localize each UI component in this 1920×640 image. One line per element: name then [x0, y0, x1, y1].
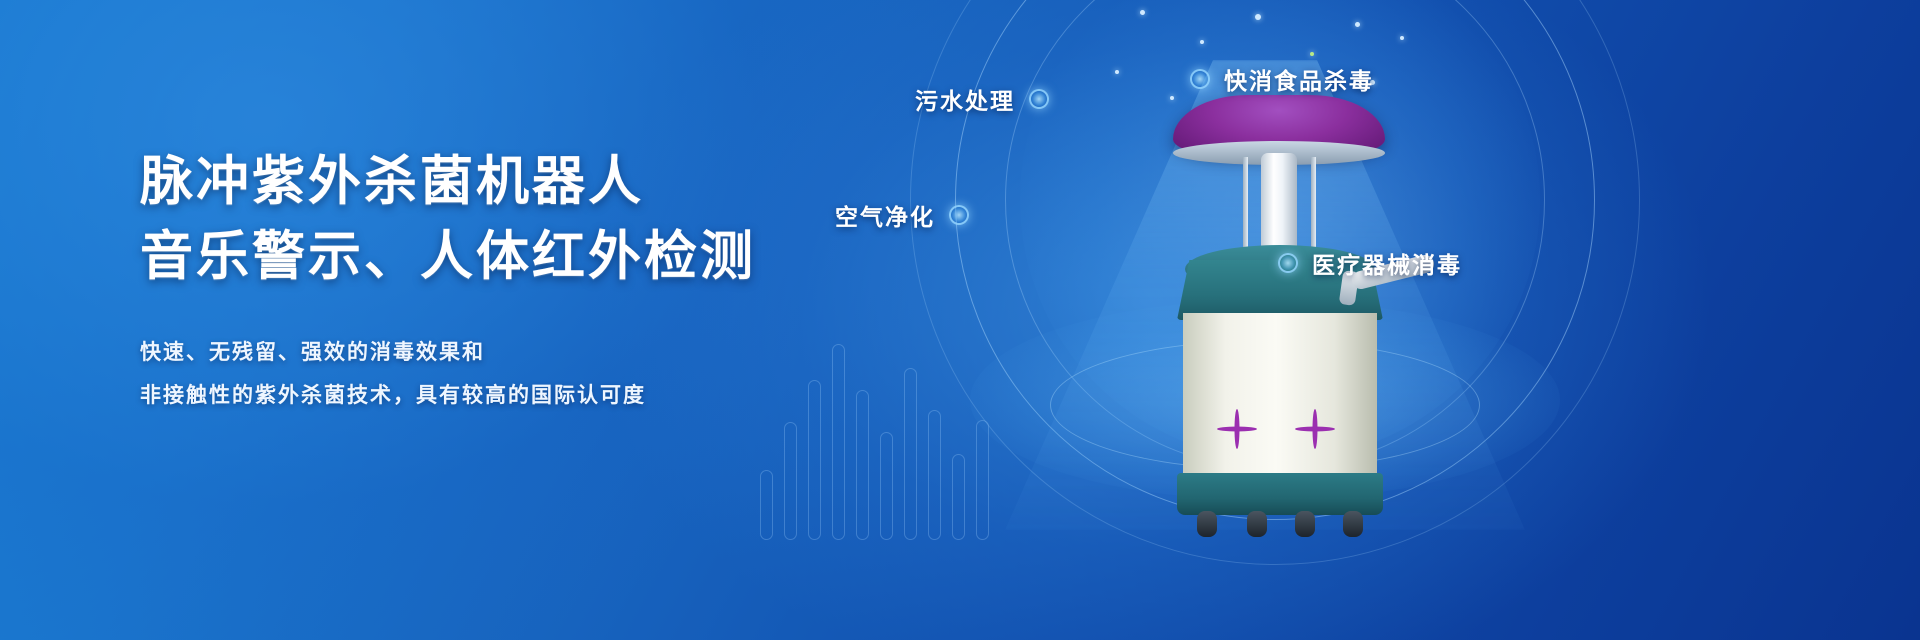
feature-label-fast-food-sterilization[interactable]: 快消食品杀毒	[1190, 62, 1374, 96]
device-wheel	[1197, 511, 1217, 537]
node-dot-icon	[1190, 69, 1210, 89]
uv-star-icon	[1295, 409, 1335, 449]
sparkle-dot	[1400, 36, 1404, 40]
node-dot-icon	[1278, 253, 1298, 273]
page-title-line-2: 音乐警示、人体红外检测	[140, 225, 860, 290]
node-dot-icon	[1029, 89, 1049, 109]
banner-copy: 脉冲紫外杀菌机器人 音乐警示、人体红外检测 快速、无残留、强效的消毒效果和 非接…	[140, 150, 860, 417]
sparkle-dot	[1200, 40, 1204, 44]
product-visual: LEIKE LEIKE	[900, 0, 1920, 640]
feature-text: 医疗器械消毒	[1312, 246, 1462, 280]
device-body-panel: LEIKE LEIKE	[1183, 313, 1377, 481]
description-line-1: 快速、无残留、强效的消毒效果和	[140, 331, 860, 374]
sparkle-dot	[1115, 70, 1119, 74]
device-wheel	[1295, 511, 1315, 537]
feature-label-waste-water[interactable]: 污水处理	[915, 82, 1049, 116]
feature-text: 污水处理	[915, 82, 1015, 116]
node-dot-icon	[949, 205, 969, 225]
banner-root: 脉冲紫外杀菌机器人 音乐警示、人体红外检测 快速、无残留、强效的消毒效果和 非接…	[0, 0, 1920, 640]
uv-star-icon	[1217, 409, 1257, 449]
sparkle-dot	[1355, 22, 1360, 27]
device-base	[1177, 473, 1383, 515]
banner-description: 快速、无残留、强效的消毒效果和 非接触性的紫外杀菌技术，具有较高的国际认可度	[140, 331, 860, 417]
feature-text: 快消食品杀毒	[1224, 62, 1374, 96]
device-wheel	[1247, 511, 1267, 537]
sparkle-dot	[1310, 52, 1314, 56]
feature-label-air-purification[interactable]: 空气净化	[835, 198, 969, 232]
device-wheel	[1343, 511, 1363, 537]
feature-text: 空气净化	[835, 198, 935, 232]
sparkle-dot	[1255, 14, 1261, 20]
page-title-line-1: 脉冲紫外杀菌机器人	[140, 150, 860, 215]
description-line-2: 非接触性的紫外杀菌技术，具有较高的国际认可度	[140, 374, 860, 417]
sparkle-dot	[1140, 10, 1145, 15]
uv-robot-device: LEIKE LEIKE	[1155, 95, 1405, 495]
feature-label-medical-device-disinfection[interactable]: 医疗器械消毒	[1278, 246, 1462, 280]
